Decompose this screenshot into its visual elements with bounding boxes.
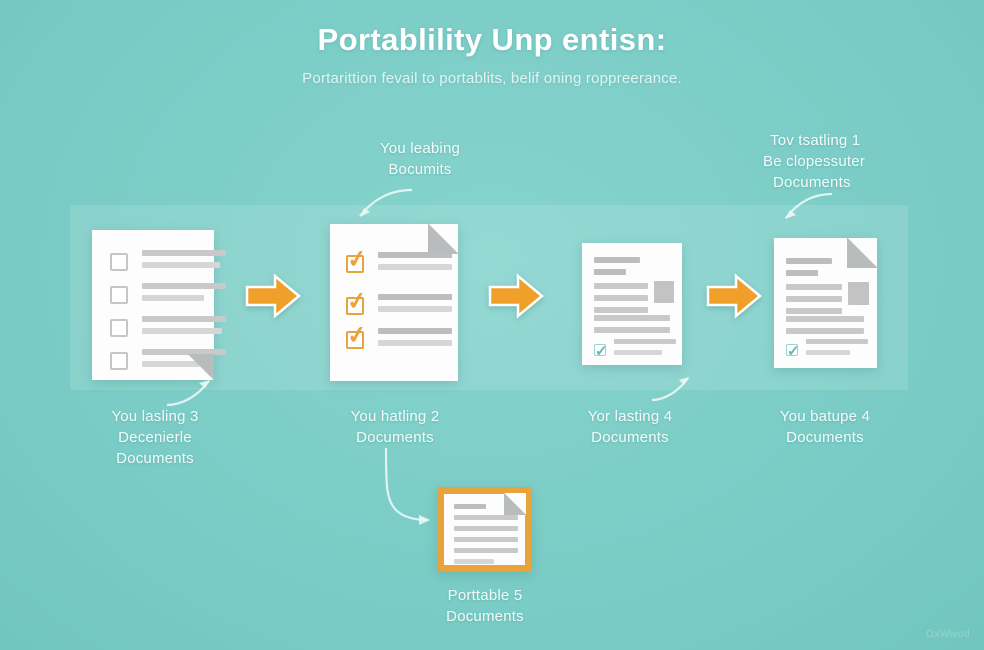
thumbnail-placeholder (654, 281, 674, 303)
callout-portable-line-1: Porttable 5 (390, 585, 580, 606)
callout-top-center: You leabing Bocumits (320, 138, 520, 180)
callout-top-right-line-2: Be clopessuter (745, 151, 965, 172)
checkbox-checked-1-text (378, 252, 452, 276)
checkmark-icon: ✓ (595, 340, 608, 364)
callout-bottom-third: Yor lasting 4 Documents (540, 406, 720, 448)
callout-bottom-left: You lasling 3 Decenierle Documents (60, 406, 250, 469)
document-card-step-2[interactable]: ✓ ✓ ✓ (330, 224, 458, 381)
checkbox-1-text (142, 250, 226, 274)
checkbox-checked-1[interactable]: ✓ (346, 255, 364, 273)
callout-bottom-center-line-1: You hatling 2 (300, 406, 490, 427)
checkbox-teal[interactable]: ✓ (594, 344, 606, 356)
checkmark-icon: ✓ (787, 340, 800, 364)
callout-top-right-line-1: Tov tsatling 1 (745, 130, 965, 151)
curved-arrow-down-left-icon (770, 190, 840, 228)
watermark: OxWivod (926, 629, 970, 640)
page-fold-icon (847, 238, 877, 268)
thumbnail-placeholder (848, 282, 869, 305)
callout-bottom-right: You batupe 4 Documents (735, 406, 915, 448)
callout-bottom-center: You hatling 2 Documents (300, 406, 490, 448)
checkbox-3[interactable] (110, 319, 128, 337)
callout-bottom-left-line-1: You lasling 3 (60, 406, 250, 427)
checkbox-teal-text (614, 339, 676, 361)
checkbox-2[interactable] (110, 286, 128, 304)
curved-arrow-down-left-icon (340, 186, 420, 226)
checkbox-checked-3-text (378, 328, 452, 352)
callout-bottom-right-line-2: Documents (735, 427, 915, 448)
callout-bottom-third-line-2: Documents (540, 427, 720, 448)
callout-top-right: Tov tsatling 1 Be clopessuter Documents (745, 130, 965, 193)
callout-portable-card: Porttable 5 Documents (390, 585, 580, 627)
checkbox-teal-text (806, 339, 868, 361)
callout-bottom-left-line-2: Decenierle (60, 427, 250, 448)
checkmark-icon: ✓ (345, 289, 368, 316)
page-fold-icon (428, 224, 458, 254)
callout-bottom-third-line-1: Yor lasting 4 (540, 406, 720, 427)
page-fold-icon (504, 493, 526, 515)
checkbox-teal[interactable]: ✓ (786, 344, 798, 356)
callout-portable-line-2: Documents (390, 606, 580, 627)
curved-arrow-down-right-icon (372, 448, 452, 538)
checkbox-checked-2[interactable]: ✓ (346, 297, 364, 315)
flow-arrow-2 (488, 273, 544, 319)
callout-bottom-center-line-2: Documents (300, 427, 490, 448)
callout-bottom-left-line-3: Documents (60, 448, 250, 469)
checkbox-4[interactable] (110, 352, 128, 370)
checkmark-icon: ✓ (345, 323, 368, 350)
document-card-step-3[interactable]: ✓ (582, 243, 682, 365)
callout-top-center-line-2: Bocumits (320, 159, 520, 180)
flow-arrow-1 (245, 273, 301, 319)
page-subtitle: Portarittion fevail to portablits, belif… (0, 70, 984, 87)
document-card-step-4[interactable]: ✓ (774, 238, 877, 368)
callout-top-center-line-1: You leabing (320, 138, 520, 159)
checkmark-icon: ✓ (345, 247, 368, 274)
checkbox-2-text (142, 283, 226, 307)
header: Portablility Unp entisn: Portarittion fe… (0, 18, 984, 87)
document-card-step-1[interactable] (92, 230, 214, 380)
checkbox-checked-2-text (378, 294, 452, 318)
page-title: Portablility Unp entisn: (0, 18, 984, 62)
curved-arrow-up-right-icon (648, 372, 708, 406)
curved-arrow-up-right-icon (163, 375, 233, 410)
checkbox-3-text (142, 316, 226, 340)
checkbox-1[interactable] (110, 253, 128, 271)
checkbox-checked-3[interactable]: ✓ (346, 331, 364, 349)
infographic-canvas: Portablility Unp entisn: Portarittion fe… (0, 0, 984, 650)
flow-arrow-3 (706, 273, 762, 319)
callout-bottom-right-line-1: You batupe 4 (735, 406, 915, 427)
